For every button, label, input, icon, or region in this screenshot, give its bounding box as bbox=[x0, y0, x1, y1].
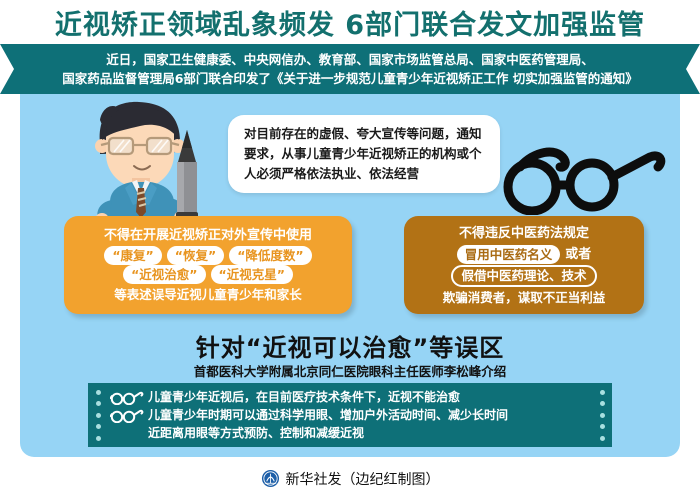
subtitle-line-1: 近日，国家卫生健康委、中央网信办、教育部、国家市场监管总局、国家中医药管理局、 bbox=[106, 50, 594, 69]
glasses-bullet-icon bbox=[110, 390, 144, 405]
eyeglasses-icon bbox=[498, 143, 668, 215]
obox-right-line-4: 欺骗消费者，谋取不正当利益 bbox=[443, 287, 606, 308]
pill-kangfu: “康复” bbox=[104, 246, 161, 265]
fact-item-1: 儿童青少年近视后，在目前医疗技术条件下，近视不能治愈 bbox=[110, 388, 590, 406]
footer: 新华社发（边纪红制图） bbox=[0, 462, 700, 495]
infographic-page: 近视矫正领域乱象频发 6部门联合发文加强监管 近日，国家卫生健康委、中央网信办、… bbox=[0, 0, 700, 495]
fact-text-2-line-1: 儿童青少年时期可以通过科学用眼、增加户外活动时间、减少长时间 bbox=[148, 406, 508, 424]
fact-item-2-continuation: 近距离用眼等方式预防、控制和减缓近视 bbox=[110, 424, 590, 442]
obox-left-pills-row-1: “康复” “恢复” “降低度数” bbox=[104, 246, 311, 265]
page-title: 近视矫正领域乱象频发 6部门联合发文加强监管 bbox=[55, 3, 645, 42]
glasses-bullet-icon bbox=[110, 408, 144, 423]
obox-right-suffix: 或者 bbox=[565, 244, 591, 265]
facts-box: 儿童青少年近视后，在目前医疗技术条件下，近视不能治愈 儿童青少年时期可以通过科学… bbox=[88, 383, 612, 447]
obox-right-row-3: 假借中医药理论、技术 bbox=[451, 265, 596, 287]
section-heading: 针对“近视可以治愈”等误区 bbox=[0, 328, 700, 363]
section-subheading: 首都医科大学附属北京同仁医院眼科主任医师李松峰介绍 bbox=[0, 361, 700, 380]
speech-bubble: 对目前存在的虚假、夸大宣传等问题，通知 要求，从事儿童青少年近视矫正的机构或个 … bbox=[228, 115, 500, 193]
pill-huifu: “恢复” bbox=[167, 246, 224, 265]
footer-credit: 新华社发（边纪红制图） bbox=[286, 469, 440, 489]
prohibition-box-advertising: 不得在开展近视矫正对外宣传中使用 “康复” “恢复” “降低度数” “近视治愈”… bbox=[64, 216, 352, 314]
obox-right-row-2: 冒用中医药名义 或者 bbox=[457, 244, 592, 265]
obox-left-pills-row-2: “近视治愈” “近视克星” bbox=[123, 265, 293, 284]
pill-jiangdidushu: “降低度数” bbox=[229, 246, 311, 265]
bubble-line-1: 对目前存在的虚假、夸大宣传等问题，通知 bbox=[244, 124, 486, 144]
fact-item-2: 儿童青少年时期可以通过科学用眼、增加户外活动时间、减少长时间 bbox=[110, 406, 590, 424]
obox-right-line-1: 不得违反中医药法规定 bbox=[459, 223, 589, 244]
pill-jiajie-tcm: 假借中医药理论、技术 bbox=[451, 265, 596, 287]
dot-column-right bbox=[597, 383, 607, 447]
obox-left-line-1: 不得在开展近视矫正对外宣传中使用 bbox=[104, 225, 312, 246]
obox-left-line-4: 等表述误导近视儿童青少年和家长 bbox=[114, 284, 302, 305]
dot-column-left bbox=[93, 383, 103, 447]
fact-text-1: 儿童青少年近视后，在目前医疗技术条件下，近视不能治愈 bbox=[148, 388, 460, 406]
xinhua-logo-icon bbox=[261, 469, 280, 488]
bubble-line-2: 要求，从事儿童青少年近视矫正的机构或个 bbox=[244, 144, 486, 164]
prohibition-box-tcm: 不得违反中医药法规定 冒用中医药名义 或者 假借中医药理论、技术 欺骗消费者，谋… bbox=[404, 216, 644, 314]
fact-text-2-line-2: 近距离用眼等方式预防、控制和减缓近视 bbox=[110, 424, 364, 442]
pencil-illustration bbox=[172, 128, 202, 225]
subtitle-line-2: 国家药品监督管理局6部门联合印发了《关于进一步规范儿童青少年近视矫正工作 切实加… bbox=[62, 69, 638, 88]
title-bar: 近视矫正领域乱象频发 6部门联合发文加强监管 bbox=[0, 0, 700, 44]
subtitle-ribbon: 近日，国家卫生健康委、中央网信办、教育部、国家市场监管总局、国家中医药管理局、 … bbox=[0, 44, 700, 94]
bubble-line-3: 人必须严格依法执业、依法经营 bbox=[244, 164, 486, 184]
pill-jinshikexing: “近视克星” bbox=[211, 265, 293, 284]
pill-jinshizhiyu: “近视治愈” bbox=[123, 265, 205, 284]
pill-maoyong-tcm: 冒用中医药名义 bbox=[457, 245, 561, 264]
